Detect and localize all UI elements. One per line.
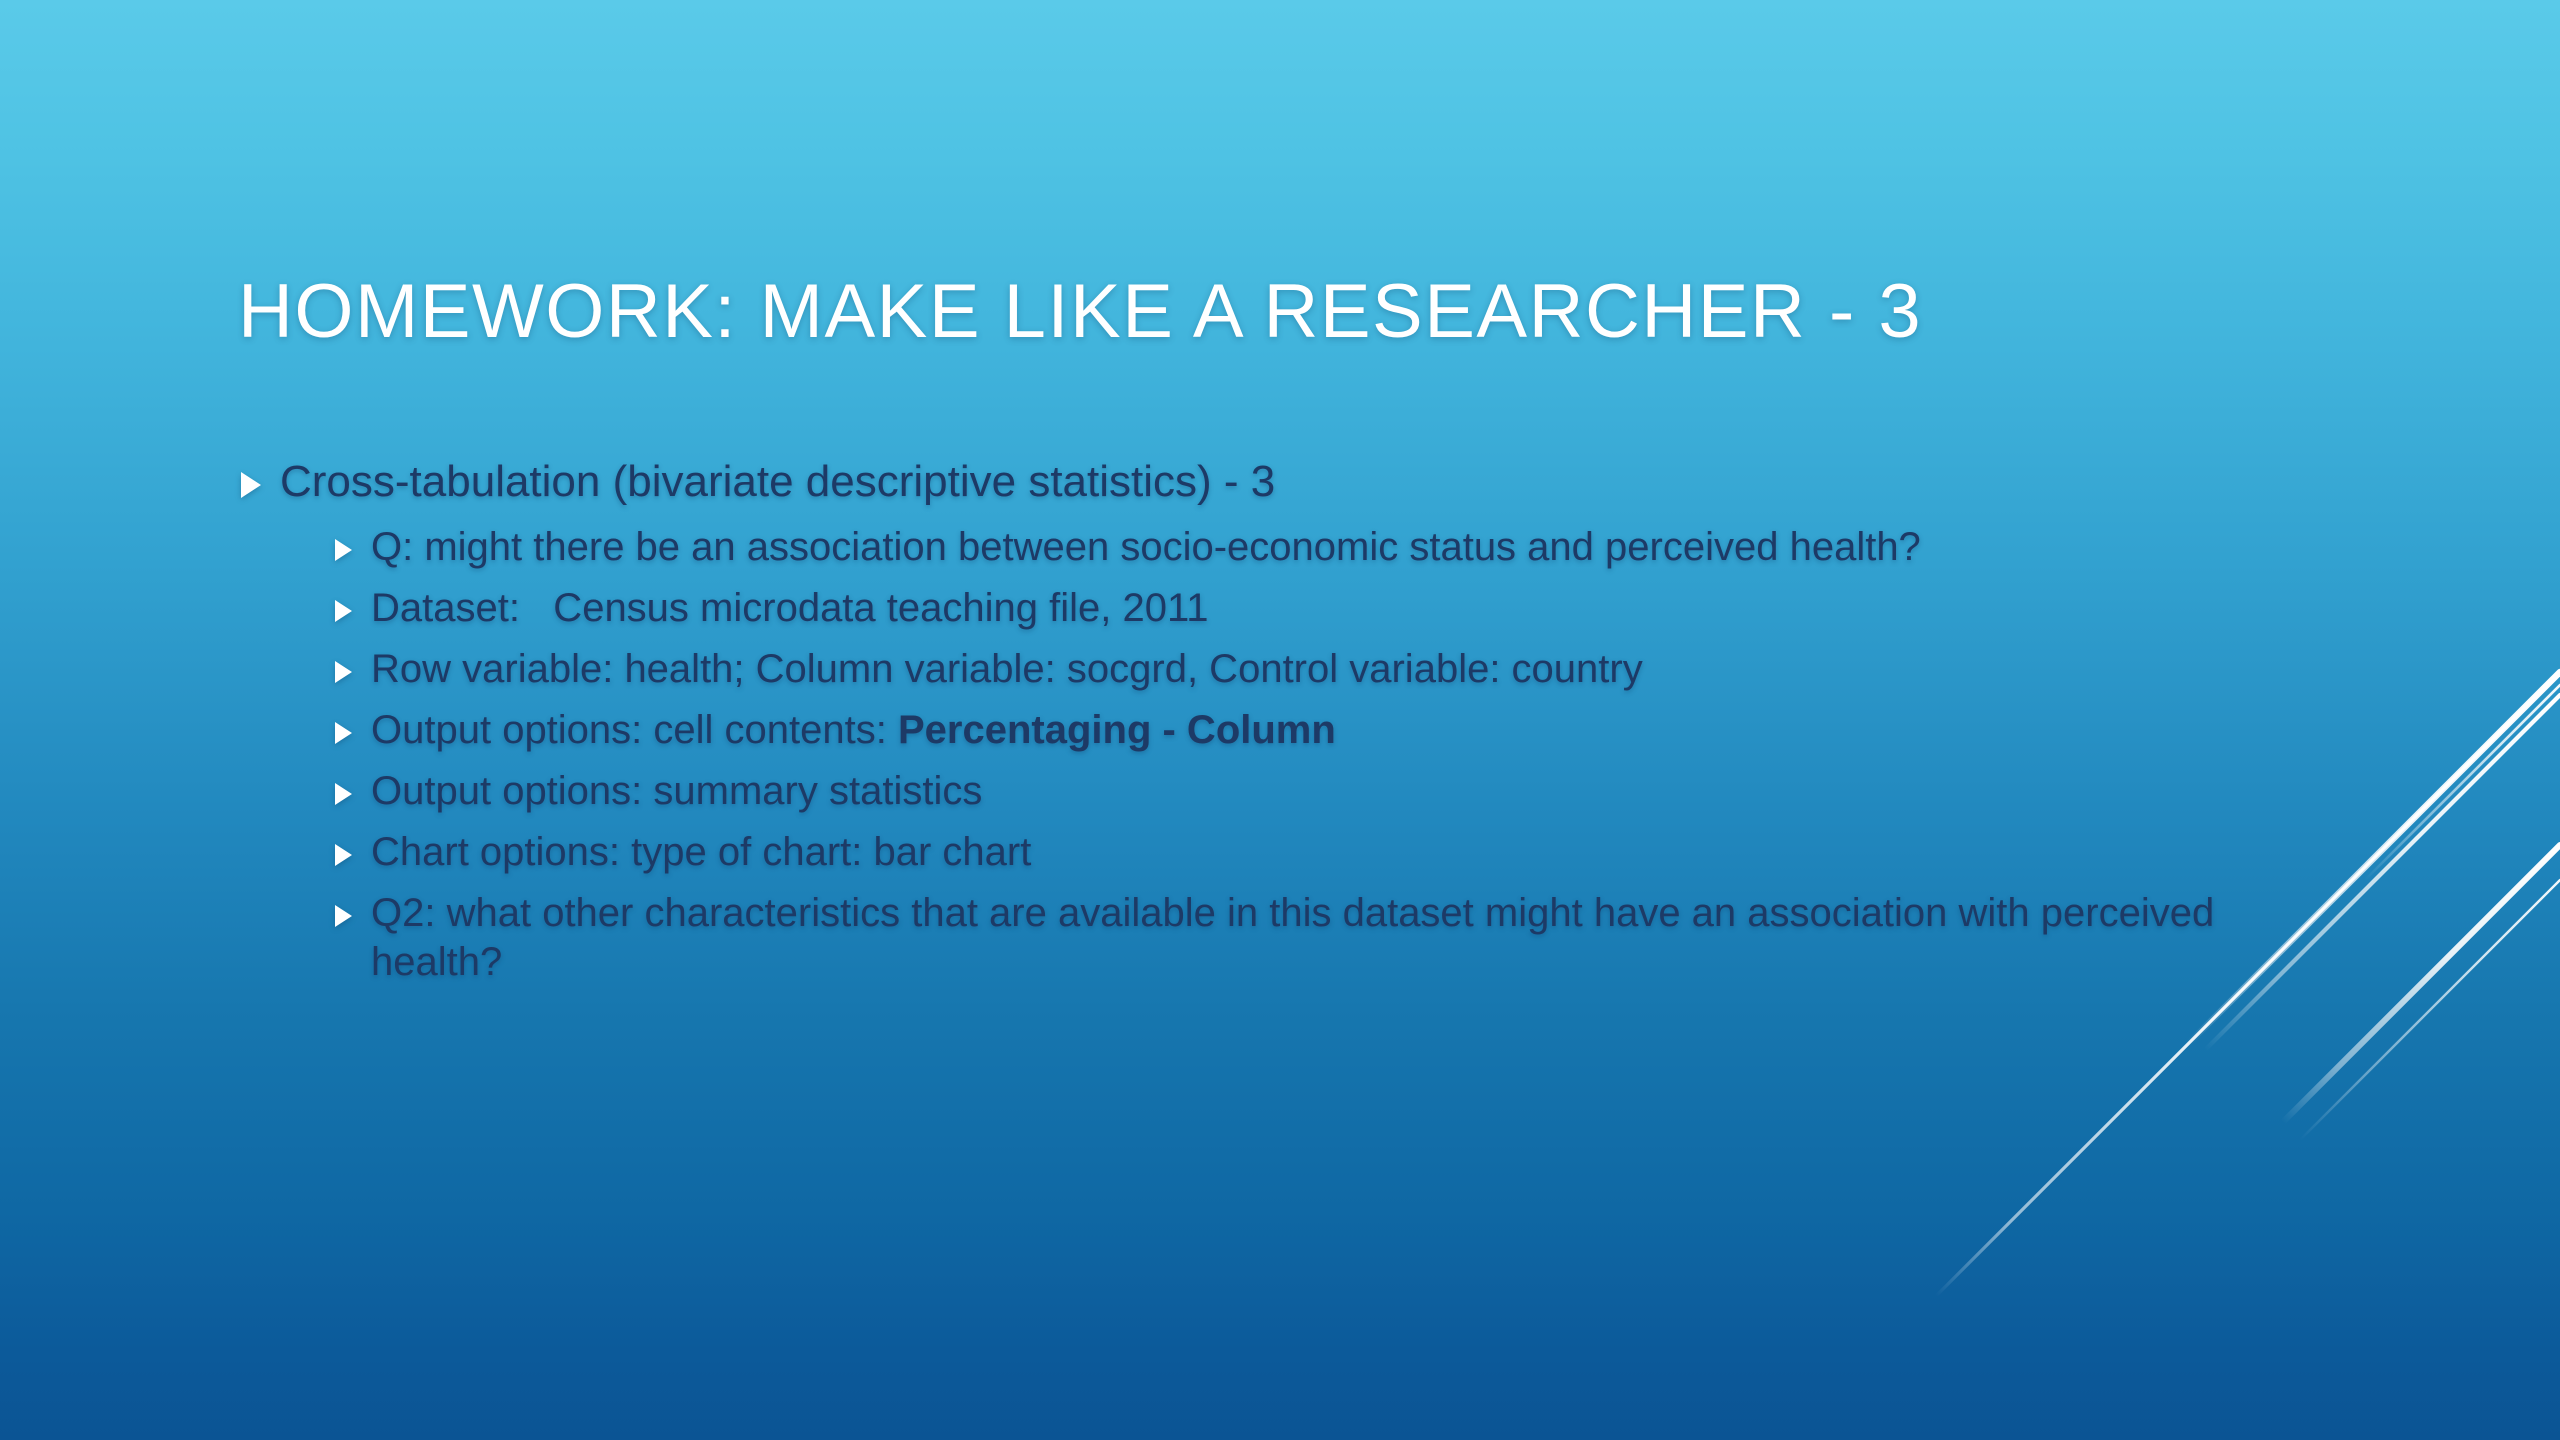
slide-body: Cross-tabulation (bivariate descriptive … xyxy=(232,455,2342,998)
bullet-level2: Chart options: type of chart: bar chart xyxy=(327,828,2342,878)
bullet-text-prefix: Output options: cell contents: xyxy=(371,708,898,752)
bullet-level2: Row variable: health; Column variable: s… xyxy=(327,645,2342,695)
triangle-right-icon xyxy=(327,889,371,939)
bullet-level2: Q: might there be an association between… xyxy=(327,523,2342,573)
bullet-level1: Cross-tabulation (bivariate descriptive … xyxy=(232,455,2342,509)
presentation-slide: HOMEWORK: MAKE LIKE A RESEARCHER - 3 Cro… xyxy=(0,0,2560,1440)
triangle-right-icon xyxy=(327,706,371,756)
bullet-text: Chart options: type of chart: bar chart xyxy=(371,828,2342,877)
bullet-level2: Dataset: Census microdata teaching file,… xyxy=(327,584,2342,634)
bullet-text: Output options: summary statistics xyxy=(371,767,2342,816)
triangle-right-icon xyxy=(327,767,371,817)
bullet-text: Row variable: health; Column variable: s… xyxy=(371,645,2342,694)
bullet-text: Dataset: Census microdata teaching file,… xyxy=(371,584,2342,633)
bullet-text: Q: might there be an association between… xyxy=(371,523,2342,572)
bullet-text-emphasis: Percentaging - Column xyxy=(898,708,1336,752)
triangle-right-icon xyxy=(327,584,371,634)
bullet-level2: Q2: what other characteristics that are … xyxy=(327,889,2342,987)
triangle-right-icon xyxy=(327,645,371,695)
triangle-right-icon xyxy=(327,523,371,573)
triangle-right-icon xyxy=(232,455,280,509)
triangle-right-icon xyxy=(327,828,371,878)
bullet-level2: Output options: summary statistics xyxy=(327,767,2342,817)
bullet-text: Output options: cell contents: Percentag… xyxy=(371,706,2342,755)
bullet-text: Q2: what other characteristics that are … xyxy=(371,889,2342,987)
slide-title: HOMEWORK: MAKE LIKE A RESEARCHER - 3 xyxy=(238,272,2338,352)
bullet-text: Cross-tabulation (bivariate descriptive … xyxy=(280,455,2342,509)
bullet-level2: Output options: cell contents: Percentag… xyxy=(327,706,2342,756)
